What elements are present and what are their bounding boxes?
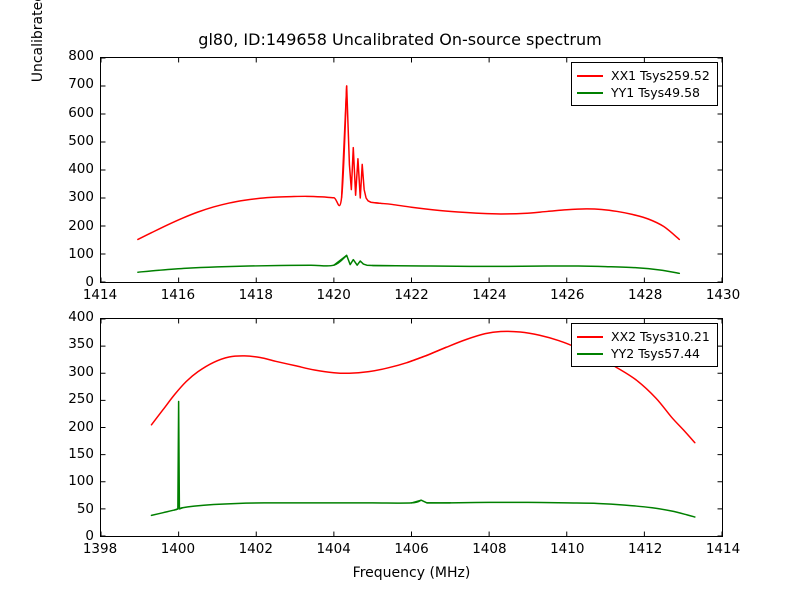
x-tick-label: 1408 [449, 541, 529, 557]
spectrum-trace [138, 86, 347, 239]
x-tick-label: 1414 [60, 287, 140, 303]
y-tick-label: 250 [38, 391, 94, 407]
legend-item: YY2 Tsys57.44 [577, 345, 711, 362]
y-tick-label: 400 [38, 309, 94, 325]
x-tick-label: 1400 [138, 541, 218, 557]
y-tick-label: 200 [38, 419, 94, 435]
x-tick-label: 1420 [294, 287, 374, 303]
x-tick-label: 1428 [605, 287, 685, 303]
spectrum-trace [175, 401, 183, 510]
spectrum-trace [151, 509, 177, 516]
y-tick-label: 300 [38, 364, 94, 380]
legend-swatch-xx1 [577, 75, 603, 77]
x-tick-label: 1410 [527, 541, 607, 557]
y-axis-label-top: Uncalibrated amplitude [30, 0, 46, 82]
x-tick-label: 1406 [372, 541, 452, 557]
y-tick-label: 200 [38, 218, 94, 234]
x-tick-label: 1414 [683, 541, 763, 557]
legend-top: XX1 Tsys259.52 YY1 Tsys49.58 [571, 62, 718, 106]
legend-label-xx2: XX2 Tsys310.21 [611, 329, 710, 344]
x-tick-label: 1412 [605, 541, 685, 557]
legend-item: XX2 Tsys310.21 [577, 328, 711, 345]
spectrum-trace [334, 255, 396, 265]
spectrum-trace [427, 502, 695, 517]
legend-item: YY1 Tsys49.58 [577, 84, 711, 101]
spectrum-trace [138, 255, 347, 272]
legend-bottom: XX2 Tsys310.21 YY2 Tsys57.44 [571, 323, 718, 367]
x-tick-label: 1426 [527, 287, 607, 303]
spectrum-trace [373, 265, 680, 273]
x-tick-label: 1418 [216, 287, 296, 303]
legend-item: XX1 Tsys259.52 [577, 67, 711, 84]
x-tick-label: 1416 [138, 287, 218, 303]
page-title: gl80, ID:149658 Uncalibrated On-source s… [0, 30, 800, 49]
x-tick-label: 1424 [449, 287, 529, 303]
y-tick-label: 800 [38, 48, 94, 64]
y-tick-label: 100 [38, 473, 94, 489]
y-tick-label: 600 [38, 105, 94, 121]
legend-label-yy1: YY1 Tsys49.58 [611, 85, 700, 100]
y-tick-label: 150 [38, 446, 94, 462]
y-tick-label: 350 [38, 336, 94, 352]
x-tick-label: 1398 [60, 541, 140, 557]
legend-label-yy2: YY2 Tsys57.44 [611, 346, 700, 361]
spectrum-trace [342, 86, 381, 203]
x-tick-label: 1402 [216, 541, 296, 557]
legend-swatch-xx2 [577, 336, 603, 338]
x-axis-label-bottom: Frequency (MHz) [100, 565, 723, 581]
spectrum-figure: gl80, ID:149658 Uncalibrated On-source s… [0, 0, 800, 600]
y-tick-label: 700 [38, 76, 94, 92]
spectrum-trace [151, 355, 427, 424]
y-tick-label: 400 [38, 161, 94, 177]
y-tick-label: 50 [38, 501, 94, 517]
x-tick-label: 1422 [372, 287, 452, 303]
spectrum-trace [375, 203, 680, 240]
y-tick-label: 100 [38, 246, 94, 262]
y-tick-label: 500 [38, 133, 94, 149]
y-tick-label: 300 [38, 189, 94, 205]
legend-swatch-yy2 [577, 353, 603, 355]
x-tick-label: 1430 [683, 287, 763, 303]
spectrum-trace [179, 500, 421, 509]
legend-swatch-yy1 [577, 92, 603, 94]
legend-label-xx1: XX1 Tsys259.52 [611, 68, 710, 83]
x-tick-label: 1404 [294, 541, 374, 557]
